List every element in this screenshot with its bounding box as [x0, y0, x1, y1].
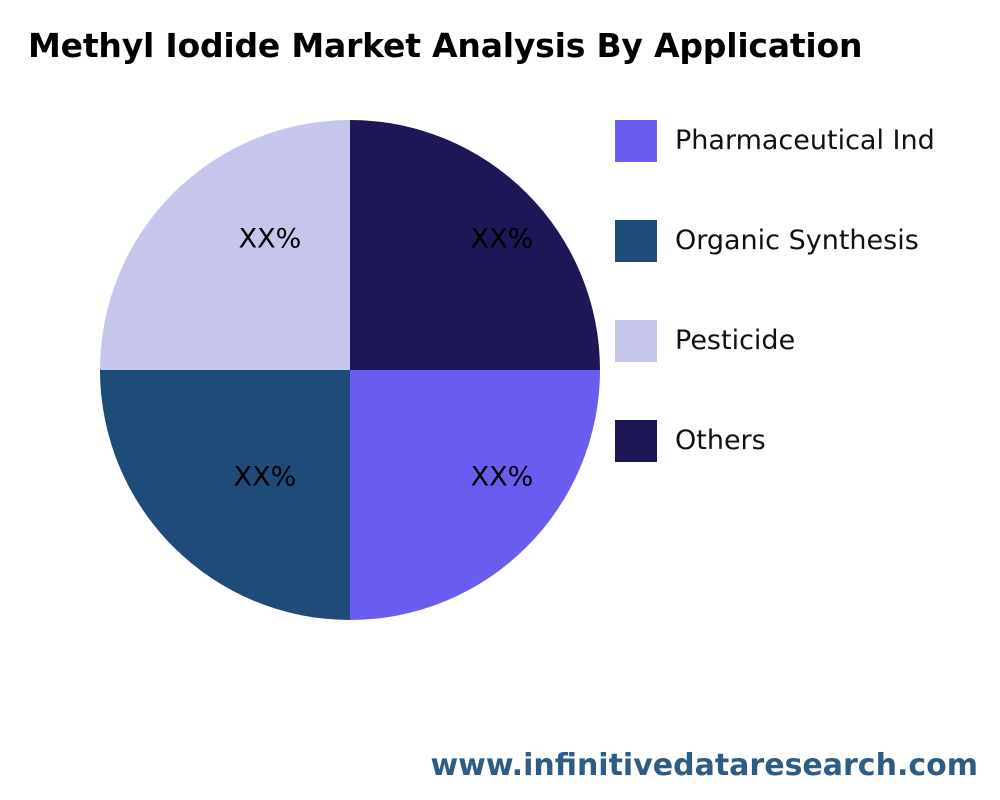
legend-swatch-organic-synthesis — [615, 220, 657, 262]
legend-label-pharmaceutical-ind: Pharmaceutical Ind — [675, 120, 935, 162]
legend-label-pesticide: Pesticide — [675, 320, 795, 362]
legend: Pharmaceutical Ind Organic Synthesis Pes… — [615, 120, 1000, 465]
legend-label-organic-synthesis: Organic Synthesis — [675, 220, 919, 262]
legend-swatch-others — [615, 420, 657, 462]
legend-swatch-pesticide — [615, 320, 657, 362]
legend-swatch-pharmaceutical-ind — [615, 120, 657, 162]
legend-item-pesticide[interactable]: Pesticide — [615, 320, 1000, 362]
chart-page: Methyl Iodide Market Analysis By Applica… — [0, 0, 1000, 800]
pie-slice-pesticide[interactable] — [100, 120, 350, 370]
legend-item-pharmaceutical-ind[interactable]: Pharmaceutical Ind — [615, 120, 1000, 162]
pie-slice-label-others: XX% — [471, 224, 534, 255]
legend-label-others: Others — [675, 420, 766, 462]
pie-slice-label-pesticide: XX% — [239, 224, 302, 255]
pie-chart-svg: XX% XX% XX% XX% — [100, 120, 600, 620]
page-title: Methyl Iodide Market Analysis By Applica… — [28, 26, 968, 65]
pie-slice-label-pharmaceutical-ind: XX% — [471, 462, 534, 493]
legend-item-organic-synthesis[interactable]: Organic Synthesis — [615, 220, 1000, 262]
pie-slice-organic-synthesis[interactable] — [100, 370, 350, 620]
pie-slice-label-organic-synthesis: XX% — [234, 462, 297, 493]
pie-chart: XX% XX% XX% XX% — [100, 120, 600, 620]
legend-item-others[interactable]: Others — [615, 420, 1000, 462]
source-website-url[interactable]: www.infinitivedataresearch.com — [0, 748, 978, 783]
pie-slice-pharmaceutical-ind[interactable] — [350, 370, 600, 620]
